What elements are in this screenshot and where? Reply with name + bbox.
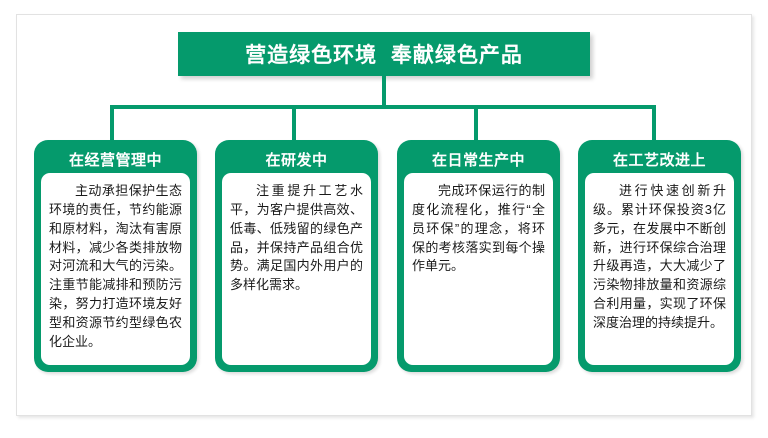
diagram-canvas: 营造绿色环境 奉献绿色产品 在经营管理中 主动承担保护生态环境的责任，节约能源和… (0, 0, 768, 438)
branch-card-4: 在工艺改进上 进行快速创新升级。累计环保投资3亿多元，在发展中不断创新，进行环保… (578, 140, 741, 372)
connector-bus (110, 105, 656, 109)
branch-body-text-2: 注重提升工艺水平，为客户提供高效、低毒、低残留的绿色产品，并保持产品组合优势。满… (230, 182, 363, 295)
branch-card-1: 在经营管理中 主动承担保护生态环境的责任，节约能源和原材料，淘汰有害原材料，减少… (34, 140, 197, 372)
connector-drop-2 (292, 105, 296, 143)
branch-card-3: 在日常生产中 完成环保运行的制度化流程化，推行“全员环保”的理念，将环保的考核落… (397, 140, 560, 372)
branch-header-label-4: 在工艺改进上 (613, 149, 706, 170)
branch-header-4: 在工艺改进上 (585, 146, 734, 173)
diagram-title-text: 营造绿色环境 奉献绿色产品 (245, 39, 523, 69)
connector-stem (382, 76, 386, 108)
branch-body-2: 注重提升工艺水平，为客户提供高效、低毒、低残留的绿色产品，并保持产品组合优势。满… (222, 173, 371, 365)
branch-body-3: 完成环保运行的制度化流程化，推行“全员环保”的理念，将环保的考核落实到每个操作单… (404, 173, 553, 365)
branch-body-1: 主动承担保护生态环境的责任，节约能源和原材料，淘汰有害原材料，减少各类排放物对河… (41, 173, 190, 365)
branch-header-3: 在日常生产中 (404, 146, 553, 173)
branch-header-label-1: 在经营管理中 (69, 149, 162, 170)
branch-body-4: 进行快速创新升级。累计环保投资3亿多元，在发展中不断创新，进行环保综合治理升级再… (585, 173, 734, 365)
connector-drop-3 (474, 105, 478, 143)
diagram-title-banner: 营造绿色环境 奉献绿色产品 (178, 32, 590, 76)
branch-header-label-2: 在研发中 (265, 149, 327, 170)
branch-header-2: 在研发中 (222, 146, 371, 173)
connector-drop-4 (652, 105, 656, 143)
branch-body-text-3: 完成环保运行的制度化流程化，推行“全员环保”的理念，将环保的考核落实到每个操作单… (412, 182, 545, 276)
branch-body-text-4: 进行快速创新升级。累计环保投资3亿多元，在发展中不断创新，进行环保综合治理升级再… (593, 182, 726, 333)
branch-header-1: 在经营管理中 (41, 146, 190, 173)
connector-drop-1 (110, 105, 114, 143)
branch-body-text-1: 主动承担保护生态环境的责任，节约能源和原材料，淘汰有害原材料，减少各类排放物对河… (49, 182, 182, 352)
branch-card-2: 在研发中 注重提升工艺水平，为客户提供高效、低毒、低残留的绿色产品，并保持产品组… (215, 140, 378, 372)
branch-header-label-3: 在日常生产中 (432, 149, 525, 170)
